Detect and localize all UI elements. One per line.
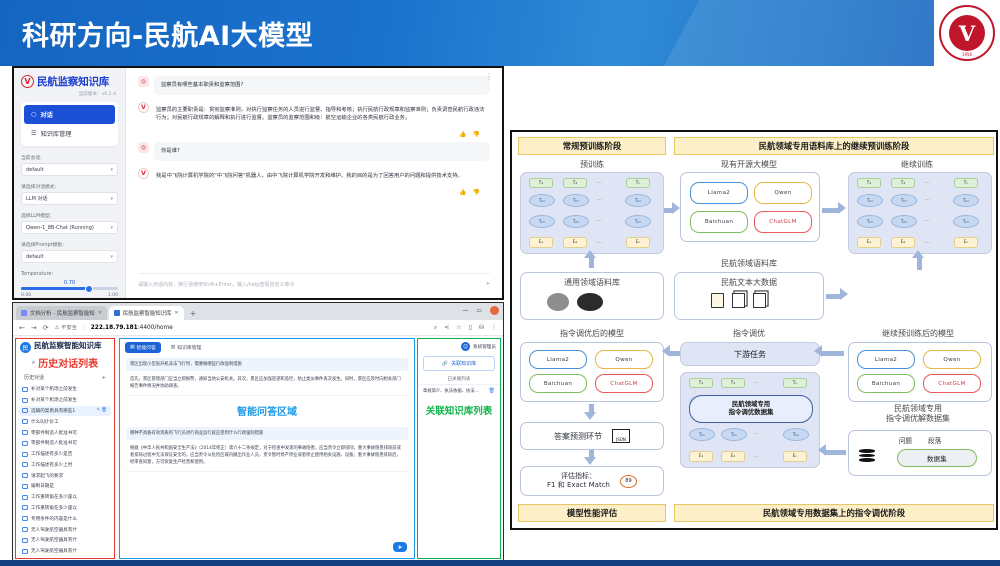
list-item-label: 工作重转角在多少座以 <box>31 505 77 511</box>
message-text: 你是谁? <box>154 142 490 161</box>
token-out: Tₙ <box>954 178 978 188</box>
message-text: 监察员有哪些基本职责和监察范围? <box>154 76 490 95</box>
chat-app-sidebar: V 民航监察知识库 当前版本：v0.2.4 ○ 对话 ☰ 知识库管理 当前会话:… <box>14 68 126 298</box>
tab-qa[interactable]: ▤ 智能问答 <box>125 342 161 353</box>
list-item[interactable]: 工作重转角在多少座以 <box>19 492 111 503</box>
continued-models-panel: Llama2 Qwen Baichuan ChatGLM <box>848 342 992 402</box>
back-icon[interactable]: ← <box>19 324 25 332</box>
seal-icon: V 1956 <box>939 5 995 61</box>
model-baichuan: Baichuan <box>529 374 587 393</box>
university-logo: V 1956 <box>934 0 1000 66</box>
model-llama2: Llama2 <box>529 350 587 369</box>
chat-bubble-icon <box>22 452 28 457</box>
chat-app-brand: V 民航监察知识库 <box>21 74 118 89</box>
more-options-icon[interactable]: ⋮ <box>485 72 494 81</box>
kb-list-item[interactable]: 章规简介、执法依据、执法... 🗑 <box>418 385 500 397</box>
version-label: 当前版本：v0.2.4 <box>21 91 116 97</box>
token-out: T₂ <box>891 178 915 188</box>
profile-icon[interactable]: ⛁ <box>479 324 484 331</box>
ellipsis: … <box>597 196 602 202</box>
slider-fill <box>21 287 87 290</box>
token-out: Tₙ <box>783 378 807 388</box>
field-label-prompt: 请选择Prompt模板: <box>21 241 118 248</box>
model-chatglm: ChatGLM <box>754 211 812 233</box>
list-item-label: 无人驾驶航空器具有什 <box>31 537 77 543</box>
qa-tabs: ▤ 智能问答 ▥ 知识库管理 <box>120 339 414 356</box>
metric-line2: F1 和 Exact Match <box>547 481 610 489</box>
list-item[interactable]: 无人驾驶航空器具有什 <box>19 546 111 557</box>
token-in: E₂ <box>563 237 587 248</box>
model-baichuan: Baichuan <box>857 374 915 393</box>
list-item[interactable]: errcis-s型无人. <box>19 557 111 560</box>
database-icon: ☰ <box>31 130 37 137</box>
hidden-node: Tᵣₘ <box>783 428 809 441</box>
metric-block: 评估指标： F1 和 Exact Match 89 <box>520 466 664 496</box>
arrow-down-icon <box>584 412 596 420</box>
kb-item-label: 章规简介、执法依据、执法... <box>423 388 479 394</box>
caption-general-corpus: 通用领域语料库 <box>521 277 663 288</box>
chat-app-main: ⋮ ◎ 监察员有哪些基本职责和监察范围? V 监察员的主要职责是：贯彻监察准则，… <box>126 68 502 298</box>
arrow-left-icon <box>814 345 822 357</box>
share-icon[interactable]: ⋖ <box>444 324 449 331</box>
qa-dataset-panel: 问题 段落 数据集 <box>848 430 992 476</box>
connector <box>822 351 844 356</box>
add-conversation-button[interactable]: + <box>102 375 106 381</box>
token-out: T₂ <box>721 378 745 388</box>
user-avatar: ☺ <box>461 342 470 351</box>
search-icon[interactable]: ⌕ <box>32 359 35 367</box>
pipeline-diagram: 常规预训练阶段 民航领域专用语料库上的继续预训练阶段 预训练 现有开源大模型 继… <box>510 130 998 530</box>
open-models-panel: Llama2 Qwen Baichuan ChatGLM <box>680 172 820 242</box>
user-info[interactable]: ☺ 系统管理员 <box>418 339 500 354</box>
qa-answer: 首先，景区管理部门应当立即报警，通知当地公安机关。其次，景区应加强巡逻和监控，防… <box>126 374 408 396</box>
ellipsis: … <box>753 379 758 385</box>
warning-icon: ⚠ <box>55 325 60 331</box>
list-item-label: 专用条件的内容是什么 <box>31 516 77 522</box>
model-llama2: Llama2 <box>857 350 915 369</box>
dataset-overlay-line2: 指令调优数据集 <box>729 409 774 417</box>
list-item[interactable]: 工作重转角在多少座以 <box>19 503 111 514</box>
doc-icons <box>711 293 766 308</box>
connector <box>826 450 846 455</box>
chevron-down-icon: ▾ <box>110 196 113 202</box>
temperature-label: Temperature： <box>21 270 118 277</box>
seal-year: 1956 <box>941 52 993 57</box>
bookmark-icon[interactable]: ☆ <box>456 324 461 331</box>
history-list-header: 历史对话 + <box>16 372 114 384</box>
reaction-buttons[interactable]: 👍 👎 <box>138 189 482 196</box>
sidebar-icon[interactable]: ▯ <box>469 324 472 331</box>
token-in: E₁ <box>857 237 881 248</box>
trash-icon[interactable]: 🗑 <box>489 388 495 394</box>
browser-tab-1-label: 文档分析 - 民航监察智能知 <box>30 309 95 317</box>
chat-bubble-icon <box>22 419 28 424</box>
answer-predict-block: 答案预测环节 JSON <box>520 422 664 450</box>
chat-bubble-icon <box>22 549 28 554</box>
tab-kb-manage-label: 知识库管理 <box>177 344 201 351</box>
model-value: Qwen-1_8B-Chat (Running) <box>26 225 94 231</box>
web-archive-icon <box>577 293 603 311</box>
link-icon: 🔗 <box>442 361 448 367</box>
brand-title: 民航监察知识库 <box>37 74 109 89</box>
wikipedia-icon <box>547 293 569 311</box>
hidden-node: Tᵣₘ <box>953 215 979 228</box>
session-value: default <box>26 167 44 173</box>
chat-icon: ○ <box>31 111 36 118</box>
caption-tuned-models: 指令调优后的模型 <box>518 328 666 339</box>
list-item-label: 什么叫计价工 <box>31 419 59 425</box>
user-name: 系统管理员 <box>473 344 496 350</box>
address-bar[interactable]: 222.18.79.181:4400/home <box>91 325 173 331</box>
forward-icon[interactable]: → <box>31 324 37 332</box>
chat-bubble-icon <box>22 495 28 500</box>
model-baichuan: Baichuan <box>690 211 748 233</box>
hidden-node: Tᵣₘ <box>625 194 651 207</box>
kb-panel: ☺ 系统管理员 🔗 关联知识库 已关联列表 章规简介、执法依据、执法... 🗑 … <box>417 338 501 559</box>
list-item[interactable]: 无人驾驶航空器具有什 <box>19 524 111 535</box>
list-item-label: 无人驾驶航空器具有什 <box>31 527 77 533</box>
slider-max: 1.00 <box>108 293 118 298</box>
nav-item-chat-label: 对话 <box>40 110 52 119</box>
database-icon: ▥ <box>171 345 176 350</box>
json-file-icon: JSON <box>612 429 630 443</box>
list-item-label: 工作重转角在多少座以 <box>31 494 77 500</box>
list-item[interactable]: 工作描述有多少上时 <box>19 459 111 470</box>
model-qwen: Qwen <box>595 350 653 369</box>
hidden-node: Tᵣₘ <box>529 194 555 207</box>
caption-domain-corpus: 民航领域语料库 <box>674 258 824 269</box>
hidden-node: Tᵣₘ <box>563 215 589 228</box>
documents-icon <box>753 293 766 308</box>
chevron-down-icon: ▾ <box>110 254 113 260</box>
arrow-left-icon <box>662 345 670 357</box>
new-tab-button[interactable]: + <box>190 309 197 318</box>
close-icon[interactable]: ✕ <box>174 310 178 316</box>
ellipsis: … <box>753 430 758 436</box>
list-item-label: 零部件制造人批准书可 <box>31 440 77 446</box>
arrow-right-icon <box>672 202 680 214</box>
metric-labels: 评估指标： F1 和 Exact Match <box>547 472 610 490</box>
nav-card: ○ 对话 ☰ 知识库管理 <box>21 102 118 146</box>
kb-list-header: 已关联列表 <box>418 373 500 385</box>
caption-continued-models: 继续预训练后的模型 <box>842 328 994 339</box>
chat-bubble-icon <box>22 538 28 543</box>
app-name: 民航监察智能知识库 <box>34 342 102 353</box>
slider-range: 0.00 1.00 <box>21 293 118 298</box>
domain-corpus-panel: 民航文本大数据 <box>674 272 824 320</box>
hidden-node: Tᵣₘ <box>529 215 555 228</box>
score-badge: 89 <box>620 475 637 488</box>
history-annotation: ⌕ 历史对话列表 <box>16 354 114 372</box>
token-in: E₂ <box>721 451 745 462</box>
chat-bubble-icon <box>22 430 28 435</box>
prompt-value: default <box>26 254 44 260</box>
browser-tab-1[interactable]: 文档分析 - 民航监察智能知 ✕ <box>16 306 107 320</box>
banner-pretrain: 常规预训练阶段 <box>518 137 666 155</box>
mode-value: LLM 对话 <box>26 195 47 202</box>
token-in: E₁ <box>689 451 713 462</box>
chat-input[interactable]: 请输入对话内容，换行请使用Shift+Enter。输入/help查看自定义命令 … <box>138 273 490 290</box>
transformer-block-pretrain: T₁ T₂ … Tₙ Tᵣₘ Tᵣₘ … Tᵣₘ Tᵣₘ Tᵣₘ … Tᵣₘ E… <box>520 172 664 254</box>
list-item-label: 工作描述有多少上时 <box>31 462 72 468</box>
hidden-node: Tᵣₘ <box>563 194 589 207</box>
arrow-right-icon <box>838 202 846 214</box>
prompt-select[interactable]: default ▾ <box>21 250 118 263</box>
message-text: 监察员的主要职责是：贯彻监察准则，对执行监察任务的人员进行监督、指导和考核；执行… <box>154 102 490 127</box>
link-kb-label: 关联知识库 <box>451 360 476 367</box>
caption-domain-dataset: 民航领域专用 指令调优解数据集 <box>842 404 994 424</box>
message-text: 我是中飞院计算机学院的"中飞院问答"机器人，由中飞院计算机学院开发和维护。我的目… <box>154 168 490 185</box>
hidden-node: Tᵣₘ <box>891 215 917 228</box>
ellipsis: … <box>925 179 930 185</box>
chat-message-bot: V 监察员的主要职责是：贯彻监察准则，对执行监察任务的人员进行监督、指导和考核；… <box>138 102 490 127</box>
arrow-down-icon <box>584 457 596 465</box>
user-avatar: ◎ <box>138 76 149 87</box>
banner-evaluate: 模型性能评估 <box>518 504 666 522</box>
qa-pair-labels: 问题 段落 <box>849 435 991 445</box>
reaction-buttons[interactable]: 👍 👎 <box>138 131 482 138</box>
favicon-icon <box>114 310 120 316</box>
chat-bubble-icon <box>22 441 28 446</box>
caption-pretrain: 预训练 <box>518 159 666 170</box>
link-kb-button[interactable]: 🔗 关联知识库 <box>423 356 495 371</box>
mode-select[interactable]: LLM 对话 ▾ <box>21 192 118 205</box>
token-out: T₁ <box>689 378 713 388</box>
history-annotation-label: 历史对话列表 <box>38 355 98 370</box>
transformer-block-continue: T₁ T₂ … Tₙ Tᵣₘ Tᵣₘ … Tᵣₘ Tᵣₘ Tᵣₘ … Tᵣₘ E… <box>848 172 992 254</box>
zoom-icon[interactable]: ⌕ <box>434 324 437 332</box>
domain-dataset-line1: 民航领域专用 <box>894 404 942 413</box>
session-select[interactable]: default ▾ <box>21 163 118 176</box>
qa-annotation: 智能问答区域 <box>126 400 408 427</box>
list-item-label: 零部件制造人批准书可 <box>31 430 77 436</box>
minimize-icon[interactable]: — <box>462 307 468 314</box>
chat-bubble-icon <box>22 398 28 403</box>
model-chatglm: ChatGLM <box>923 374 981 393</box>
list-item[interactable]: 请求起飞的要求 <box>19 470 111 481</box>
favicon-icon <box>21 310 27 316</box>
document-icon <box>711 293 724 308</box>
browser-urlbar: ← → ⟳ ⚠ 不安全 | 222.18.79.181:4400/home ⌕ … <box>13 320 503 336</box>
list-item-label: 无人驾驶航空器具有什 <box>31 548 77 554</box>
reload-icon[interactable]: ⟳ <box>43 324 49 332</box>
chevron-down-icon: ▾ <box>110 225 113 231</box>
downstream-task-label: 下游任务 <box>734 349 766 360</box>
browser-tab-2-label: 民航监察智能知识库 <box>123 309 172 317</box>
app-logo-icon: 民 <box>20 342 31 353</box>
list-item-label: 工作描述有多少是否 <box>31 451 72 457</box>
ellipsis: … <box>597 179 602 185</box>
arrow-up-icon <box>584 250 596 258</box>
ellipsis: … <box>597 239 602 245</box>
history-panel: 民 民航监察智能知识库 ⌕ 历史对话列表 历史对话 + 补对某个机场之前发生 补… <box>15 338 115 559</box>
seal-letter: V <box>949 15 985 51</box>
close-icon[interactable]: ✕ <box>98 310 102 316</box>
history-list: 补对某个机场之前发生 补对某个机场之前发生 选输的案例具有哪些1✎🗑 什么叫计价… <box>16 384 114 559</box>
edit-delete-icons[interactable]: ✎🗑 <box>97 408 108 413</box>
connector <box>670 351 680 356</box>
hidden-node: Tᵣₘ <box>625 215 651 228</box>
arrow-right-icon <box>840 288 848 300</box>
list-item[interactable]: 无人驾驶航空器具有什 <box>19 535 111 546</box>
token-out: T₂ <box>563 178 587 188</box>
chat-bubble-icon <box>22 473 28 478</box>
documents-icon <box>732 293 745 308</box>
chat-message-user: ◎ 你是谁? <box>138 142 490 161</box>
hidden-node: Tᵣₘ <box>857 215 883 228</box>
list-item-selected[interactable]: 选输的案例具有哪些1✎🗑 <box>19 406 111 417</box>
chat-bubble-icon <box>22 516 28 521</box>
nav-item-chat[interactable]: ○ 对话 <box>24 105 115 124</box>
chevron-down-icon: ▾ <box>110 167 113 173</box>
history-list-title: 历史对话 <box>24 374 44 381</box>
list-item-label: 补对某个机场之前发生 <box>31 397 77 403</box>
field-label-model: 选择LLM模型: <box>21 212 118 219</box>
tuned-models-panel: Llama2 Qwen Baichuan ChatGLM <box>520 342 664 402</box>
nav-item-kb[interactable]: ☰ 知识库管理 <box>24 124 115 143</box>
chat-bubble-icon <box>22 462 28 467</box>
field-label-session: 当前会话: <box>21 154 118 161</box>
hidden-node: Tᵣₘ <box>953 194 979 207</box>
slider-knob[interactable] <box>85 285 93 293</box>
security-indicator[interactable]: ⚠ 不安全 <box>55 324 77 331</box>
caption-domain-text: 民航文本大数据 <box>675 277 823 288</box>
token-out: T₁ <box>529 178 553 188</box>
chat-bubble-icon <box>22 527 28 532</box>
token-in: E₂ <box>891 237 915 248</box>
chat-bubble-icon <box>22 505 28 510</box>
slide-footer <box>0 560 1000 566</box>
hidden-node: Tᵣₘ <box>857 194 883 207</box>
banner-instruct-tune: 民航领域专用数据集上的指令调优阶段 <box>674 504 994 522</box>
slide-header: 科研方向-民航AI大模型 <box>0 0 1000 66</box>
domain-dataset-line2: 指令调优解数据集 <box>886 414 950 423</box>
model-select[interactable]: Qwen-1_8B-Chat (Running) ▾ <box>21 221 118 234</box>
list-item[interactable]: 什么叫计价工 <box>19 416 111 427</box>
chat-bubble-icon <box>22 387 28 392</box>
ellipsis: … <box>753 453 758 459</box>
qa-pair-question: 问题 <box>899 435 912 445</box>
close-window-icon[interactable] <box>490 306 499 315</box>
banner-continue-pretrain: 民航领域专用语料库上的继续预训练阶段 <box>674 137 994 155</box>
browser-content: 民 民航监察智能知识库 ⌕ 历史对话列表 历史对话 + 补对某个机场之前发生 补… <box>13 336 503 563</box>
token-in: Eₙ <box>783 451 807 462</box>
hidden-node: Tᵣₘ <box>689 428 715 441</box>
model-qwen: Qwen <box>923 350 981 369</box>
list-item[interactable]: 工作描述有多少是否 <box>19 449 111 460</box>
field-label-mode: 请选择对话模式: <box>21 183 118 190</box>
menu-icon[interactable]: ⋮ <box>491 324 497 331</box>
downstream-task-block: 下游任务 <box>680 342 820 366</box>
token-in: Eₙ <box>626 237 650 248</box>
page-title: 科研方向-民航AI大模型 <box>22 14 313 53</box>
ellipsis: … <box>925 239 930 245</box>
send-icon[interactable]: ➤ <box>393 542 407 552</box>
token-in: Eₙ <box>954 237 978 248</box>
browser-tab-2[interactable]: 民航监察智能知识库 ✕ <box>109 306 184 320</box>
list-item[interactable]: 零部件制造人批准书可 <box>19 438 111 449</box>
temperature-value: 0.70 <box>21 280 118 286</box>
qa-pair-paragraph: 段落 <box>928 435 941 445</box>
hidden-node: Tᵣₘ <box>891 194 917 207</box>
database-stack-icon <box>859 449 875 464</box>
caption-instruct-tuning: 指令调优 <box>674 328 824 339</box>
answer-predict-label: 答案预测环节 <box>554 431 602 442</box>
list-item[interactable]: 补对某个机场之前发生 <box>19 384 111 395</box>
metric-line1: 评估指标： <box>561 472 596 480</box>
ellipsis: … <box>597 217 602 223</box>
user-avatar: ◎ <box>138 142 149 153</box>
qa-answer: 根据《中华人民共和国安全生产法》（2014年修正）第六十二条规定，对于检查中发现… <box>126 443 408 472</box>
temperature-slider[interactable] <box>21 287 118 290</box>
qa-panel: ▤ 智能问答 ▥ 知识库管理 景区出现小型直升机非法飞行时，需要做哪些行政强制措… <box>119 338 415 559</box>
model-qwen: Qwen <box>754 182 812 204</box>
browser-window: 文档分析 - 民航监察智能知 ✕ 民航监察智能知识库 ✕ + — ▭ ← → ⟳… <box>12 302 504 564</box>
ellipsis: … <box>925 217 930 223</box>
slider-min: 0.00 <box>21 293 31 298</box>
list-item[interactable]: 编制日期是 <box>19 481 111 492</box>
nav-item-kb-label: 知识库管理 <box>41 129 72 138</box>
chat-app-screenshot: V 民航监察知识库 当前版本：v0.2.4 ○ 对话 ☰ 知识库管理 当前会话:… <box>12 66 504 300</box>
bot-avatar: V <box>138 102 149 113</box>
maximize-icon[interactable]: ▭ <box>476 307 482 314</box>
url-host: 222.18.79.181 <box>91 325 138 331</box>
list-item[interactable]: 补对某个机场之前发生 <box>19 395 111 406</box>
instruct-transformer-block: T₁ T₂ … Tₙ Tᵣₘ Tᵣₘ 民航领域专用 指令调优数据集 Tᵣₘ Tᵣ… <box>680 372 820 468</box>
caption-continue-train: 继续训练 <box>842 159 992 170</box>
token-out: Tₙ <box>626 178 650 188</box>
model-chatglm: ChatGLM <box>595 374 653 393</box>
kb-annotation: 关联知识库列表 <box>418 397 500 423</box>
brand-logo-icon: V <box>21 75 34 88</box>
tab-kb-manage[interactable]: ▥ 知识库管理 <box>166 342 207 353</box>
dataset-chip: 数据集 <box>897 449 977 467</box>
app-brand: 民 民航监察智能知识库 <box>16 339 114 354</box>
list-item-label: 编制日期是 <box>31 483 54 489</box>
qa-question: 景区出现小型直升机非法飞行时，需要做哪些行政强制措施 <box>126 358 408 371</box>
browser-toolbar: ⌕ ⋖ ☆ ▯ ⛁ ⋮ <box>434 324 497 332</box>
corpus-icons <box>547 293 603 311</box>
model-llama2: Llama2 <box>690 182 748 204</box>
arrow-up-icon <box>912 250 924 258</box>
token-out: T₁ <box>857 178 881 188</box>
qa-question: 哪种不具备有效资质的飞行员进行商业运行就应受到什么行政强制措施 <box>126 427 408 440</box>
list-item[interactable]: 专用条件的内容是什么 <box>19 513 111 524</box>
general-corpus-panel: 通用领域语料库 <box>520 272 664 320</box>
chat-input-placeholder: 请输入对话内容，换行请使用Shift+Enter。输入/help查看自定义命令 <box>138 281 294 288</box>
chat-bubble-icon <box>22 408 28 413</box>
browser-tabbar: 文档分析 - 民航监察智能知 ✕ 民航监察智能知识库 ✕ + — ▭ <box>13 303 503 320</box>
qa-body: 景区出现小型直升机非法飞行时，需要做哪些行政强制措施 首先，景区管理部门应当立即… <box>120 356 414 478</box>
url-path: :4400/home <box>138 325 173 331</box>
dataset-overlay: 民航领域专用 指令调优数据集 <box>689 395 813 423</box>
list-item[interactable]: 零部件制造人批准书可 <box>19 427 111 438</box>
tab-qa-label: 智能问答 <box>137 344 156 351</box>
send-icon[interactable]: ➤ <box>486 281 490 287</box>
hidden-node: Tᵣₘ <box>721 428 747 441</box>
chat-bubble-icon <box>22 484 28 489</box>
window-controls: — ▭ <box>462 306 499 315</box>
connector <box>917 256 922 270</box>
list-item-label: 选输的案例具有哪些1 <box>31 408 75 414</box>
token-in: E₁ <box>529 237 553 248</box>
bot-avatar: V <box>138 168 149 179</box>
chat-icon: ▤ <box>130 345 135 350</box>
security-label: 不安全 <box>61 324 77 331</box>
list-item-label: 请求起飞的要求 <box>31 473 63 479</box>
list-item-label: 补对某个机场之前发生 <box>31 386 77 392</box>
chat-message-bot: V 我是中飞院计算机学院的"中飞院问答"机器人，由中飞院计算机学院开发和维护。我… <box>138 168 490 185</box>
